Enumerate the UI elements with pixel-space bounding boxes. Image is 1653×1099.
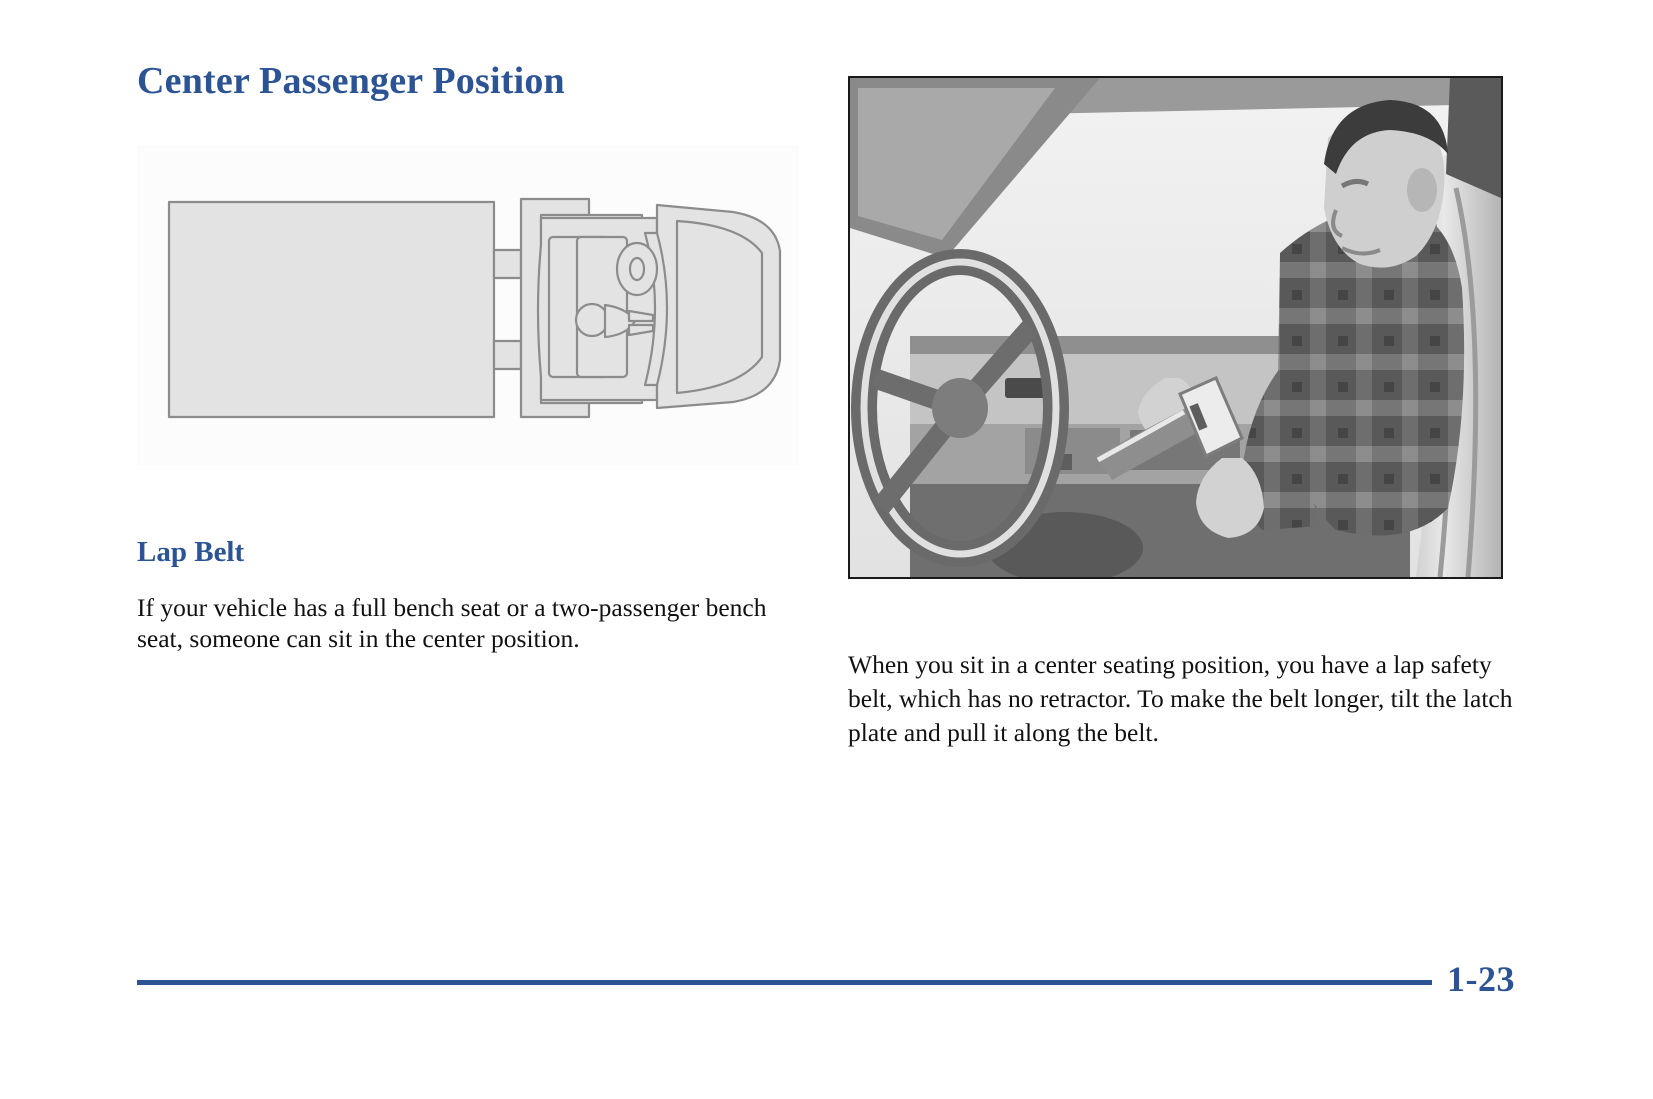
truck-bed-gap-bottom (494, 341, 521, 369)
truck-top-view-diagram (137, 145, 799, 465)
manual-page: Center Passenger Position (0, 0, 1653, 1099)
occupant-head-shape (576, 304, 608, 336)
page-number: 1-23 (1447, 958, 1515, 1000)
truck-bed-shape (169, 202, 494, 417)
cab-illustration-svg (850, 78, 1501, 577)
man-ear-shape (1407, 168, 1437, 212)
lap-belt-body-text: If your vehicle has a full bench seat or… (137, 592, 797, 654)
page-title: Center Passenger Position (137, 62, 809, 102)
truck-hood-inner (677, 221, 762, 393)
center-lap-belt-photo (848, 76, 1503, 579)
steering-wheel-hub (932, 378, 988, 438)
truck-bed-gap-top (494, 250, 521, 278)
footer-rule (137, 980, 1432, 985)
page-footer: 1-23 (137, 972, 1515, 1032)
truck-diagram-svg (137, 145, 799, 465)
left-column: Center Passenger Position (137, 62, 809, 102)
center-seating-body-text: When you sit in a center seating positio… (848, 648, 1513, 750)
steering-wheel-hub (630, 258, 644, 280)
lap-belt-subheading: Lap Belt (137, 537, 244, 569)
